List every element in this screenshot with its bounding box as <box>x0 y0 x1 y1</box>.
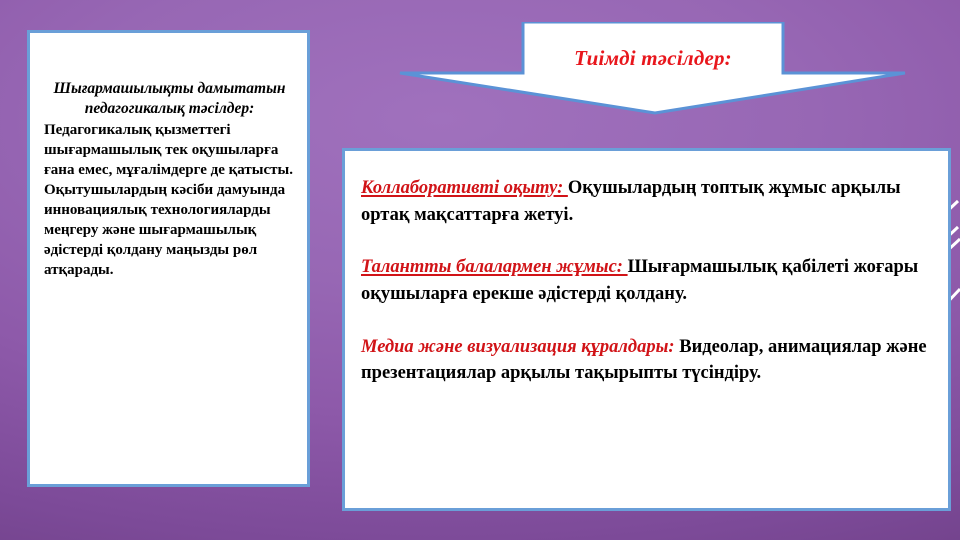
slide-canvas: Шығармашылықты дамытатын педагогикалық т… <box>0 0 960 540</box>
method-lead-talented: Талантты балалармен жұмыс: <box>361 257 628 277</box>
method-item-collaborative: Коллаборативті оқыту: Оқушылардың топтық… <box>361 175 932 228</box>
left-box-heading: Шығармашылықты дамытатын педагогикалық т… <box>44 79 295 119</box>
right-text-box: Коллаборативті оқыту: Оқушылардың топтық… <box>342 148 951 511</box>
left-box-body: Педагогикалық қызметтегі шығармашылық те… <box>44 121 295 281</box>
method-lead-collaborative: Коллаборативті оқыту: <box>361 178 568 198</box>
method-lead-media: Медиа және визуализация құралдары: <box>361 337 675 357</box>
method-item-media: Медиа және визуализация құралдары: Видео… <box>361 334 932 387</box>
arrow-banner: Тиімді тәсілдер: <box>390 22 915 118</box>
banner-title: Тиімді тәсілдер: <box>523 46 783 71</box>
method-item-talented: Талантты балалармен жұмыс: Шығармашылық … <box>361 254 932 307</box>
left-text-box: Шығармашылықты дамытатын педагогикалық т… <box>27 30 310 487</box>
